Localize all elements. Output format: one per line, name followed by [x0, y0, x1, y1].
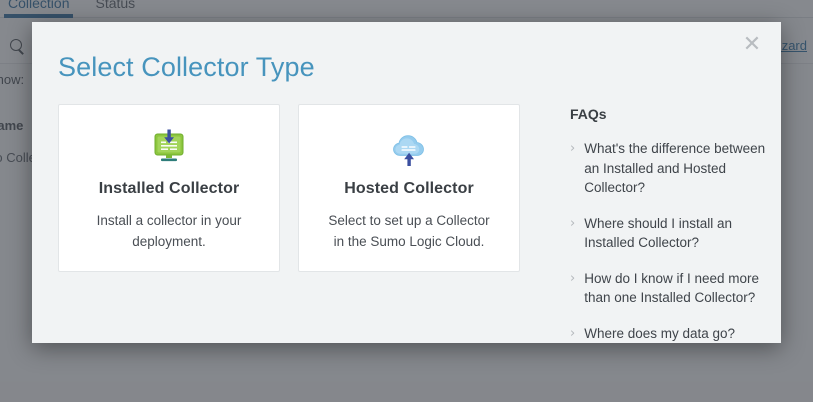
installed-collector-description: Install a collector in your deployment.	[82, 211, 257, 253]
faq-item-difference[interactable]: › What's the difference between an Insta…	[570, 139, 769, 198]
faq-section: FAQs › What's the difference between an …	[520, 104, 769, 343]
faq-item-label: How do I know if I need more than one In…	[584, 269, 769, 308]
chevron-right-icon: ›	[570, 214, 575, 233]
chevron-right-icon: ›	[570, 269, 575, 288]
faq-item-data-go[interactable]: › Where does my data go?	[570, 324, 769, 343]
faq-item-label: Where does my data go?	[584, 324, 735, 343]
faq-item-label: Where should I install an Installed Coll…	[584, 214, 769, 253]
installed-collector-title: Installed Collector	[99, 180, 240, 198]
chevron-right-icon: ›	[570, 324, 575, 343]
modal-body: Installed Collector Install a collector …	[58, 104, 769, 343]
faq-item-how-many[interactable]: › How do I know if I need more than one …	[570, 269, 769, 308]
hosted-collector-cloud-upload-icon	[388, 127, 430, 171]
installed-collector-monitor-download-icon	[148, 127, 190, 171]
hosted-collector-description: Select to set up a Collector in the Sumo…	[322, 211, 497, 253]
select-collector-type-modal: ✕ Select Collector Type	[32, 22, 781, 343]
chevron-right-icon: ›	[570, 139, 575, 158]
close-icon[interactable]: ✕	[739, 33, 765, 59]
faq-item-where-install[interactable]: › Where should I install an Installed Co…	[570, 214, 769, 253]
page-title: Select Collector Type	[58, 52, 315, 83]
faq-item-label: What's the difference between an Install…	[584, 139, 769, 198]
hosted-collector-title: Hosted Collector	[344, 180, 474, 198]
hosted-collector-card[interactable]: Hosted Collector Select to set up a Coll…	[298, 104, 520, 272]
installed-collector-card[interactable]: Installed Collector Install a collector …	[58, 104, 280, 272]
collector-card-list: Installed Collector Install a collector …	[58, 104, 520, 343]
faq-heading: FAQs	[570, 106, 769, 122]
